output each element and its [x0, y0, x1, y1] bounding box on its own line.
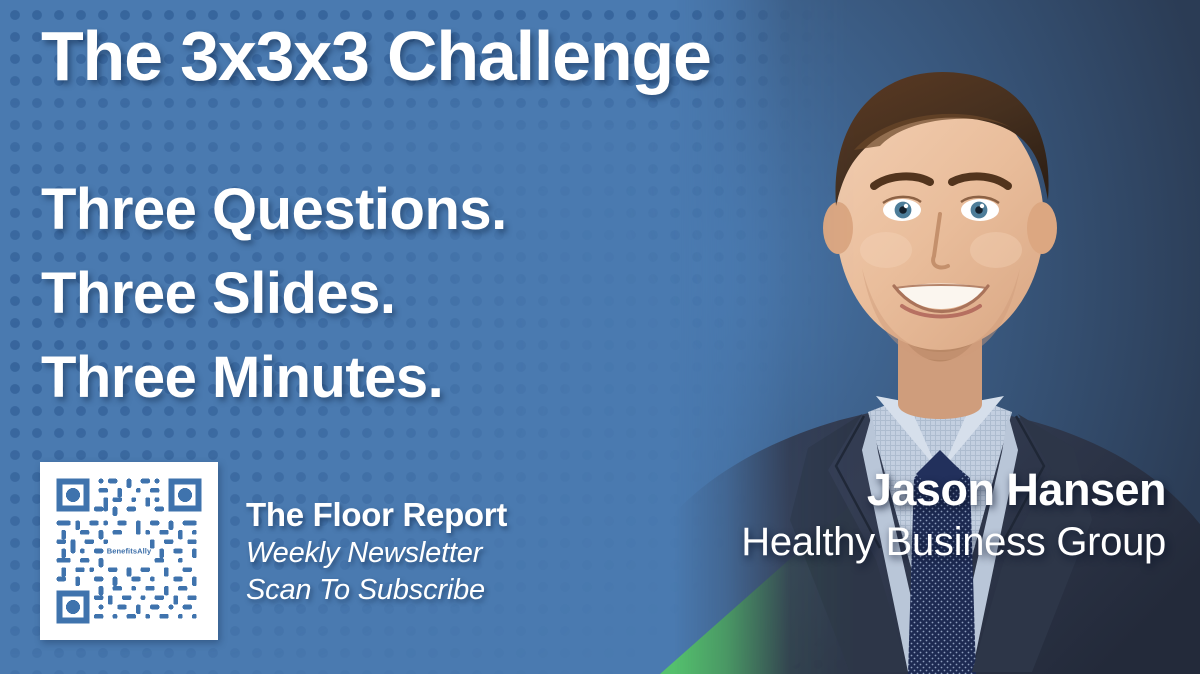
slide-title: The 3x3x3 Challenge [41, 21, 711, 91]
speaker-name: Jason Hansen [741, 463, 1166, 517]
newsletter-block: The Floor Report Weekly Newsletter Scan … [246, 495, 507, 609]
speaker-portrait [640, 0, 1200, 674]
subhead-line-2: Three Slides. [41, 252, 507, 336]
subhead-line-1: Three Questions. [41, 168, 507, 252]
speaker-organization: Healthy Business Group [741, 517, 1166, 567]
newsletter-cta: Scan To Subscribe [246, 572, 507, 609]
subhead-line-3: Three Minutes. [41, 336, 507, 420]
slide-subheadline: Three Questions. Three Slides. Three Min… [41, 168, 507, 420]
qr-code-card[interactable]: BenefitsAlly [40, 462, 218, 640]
qr-brand-label: BenefitsAlly [40, 547, 218, 556]
presentation-slide: The 3x3x3 Challenge Three Questions. Thr… [0, 0, 1200, 674]
speaker-info: Jason Hansen Healthy Business Group [741, 463, 1166, 567]
newsletter-title: The Floor Report [246, 495, 507, 535]
newsletter-subtitle: Weekly Newsletter [246, 535, 507, 572]
